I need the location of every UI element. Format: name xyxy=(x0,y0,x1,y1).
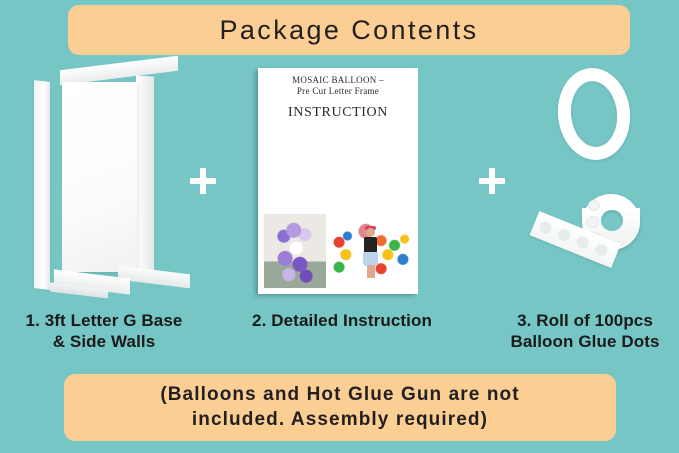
skirt xyxy=(363,252,378,266)
product-letter-g-frame xyxy=(20,60,190,305)
glue-dot xyxy=(556,227,572,243)
footer-disclaimer-banner: (Balloons and Hot Glue Gun are not inclu… xyxy=(64,374,616,441)
head xyxy=(366,228,375,237)
title-banner: Package Contents xyxy=(68,5,630,55)
booklet-title: INSTRUCTION xyxy=(264,105,412,121)
photo-purple-letter-s xyxy=(264,214,326,288)
booklet-heading-line-2: Pre Cut Letter Frame xyxy=(264,86,412,97)
caption-item-3-line-2: Balloon Glue Dots xyxy=(492,332,678,353)
side-wall-left-panel xyxy=(34,80,50,290)
footer-line-2: included. Assembly required) xyxy=(192,408,488,432)
plus-icon xyxy=(190,168,216,194)
caption-item-3: 3. Roll of 100pcs Balloon Glue Dots xyxy=(492,311,678,352)
glue-dot-roll-core xyxy=(601,210,623,231)
caption-item-2-line-1: 2. Detailed Instruction xyxy=(242,311,442,332)
side-wall-right-panel xyxy=(136,75,154,272)
page-title: Package Contents xyxy=(219,15,478,46)
footer-line-1: (Balloons and Hot Glue Gun are not xyxy=(160,383,519,407)
glue-dot xyxy=(538,220,554,236)
caption-item-1-line-2: & Side Walls xyxy=(6,332,202,353)
booklet-photo-collage xyxy=(264,130,412,288)
front-face-panel xyxy=(62,82,137,272)
package-contents-infographic: Package Contents MOSAIC BALLOON – Pre Cu… xyxy=(0,0,679,453)
girl-figure xyxy=(363,228,379,280)
product-glue-dot-roll xyxy=(520,60,679,305)
photo-balloon-letters-hall xyxy=(264,130,412,212)
glue-dot xyxy=(586,216,599,228)
caption-item-2: 2. Detailed Instruction xyxy=(242,311,442,332)
caption-item-3-line-1: 3. Roll of 100pcs xyxy=(492,311,678,332)
caption-item-1: 1. 3ft Letter G Base & Side Walls xyxy=(6,311,202,352)
glue-dot xyxy=(588,200,600,211)
top-rail-panel xyxy=(60,56,178,85)
booklet-header: MOSAIC BALLOON – Pre Cut Letter Frame IN… xyxy=(258,68,418,123)
glue-dot xyxy=(575,235,591,251)
booklet-heading-line-1: MOSAIC BALLOON – xyxy=(264,75,412,86)
plus-icon xyxy=(479,168,505,194)
caption-item-1-line-1: 1. 3ft Letter G Base xyxy=(6,311,202,332)
glue-dot-ring-outline xyxy=(553,64,634,163)
legs xyxy=(367,265,375,278)
glue-dot xyxy=(593,242,609,258)
product-instruction-booklet: MOSAIC BALLOON – Pre Cut Letter Frame IN… xyxy=(258,68,418,294)
photo-girl-with-letters xyxy=(328,210,414,290)
shirt xyxy=(364,237,377,253)
